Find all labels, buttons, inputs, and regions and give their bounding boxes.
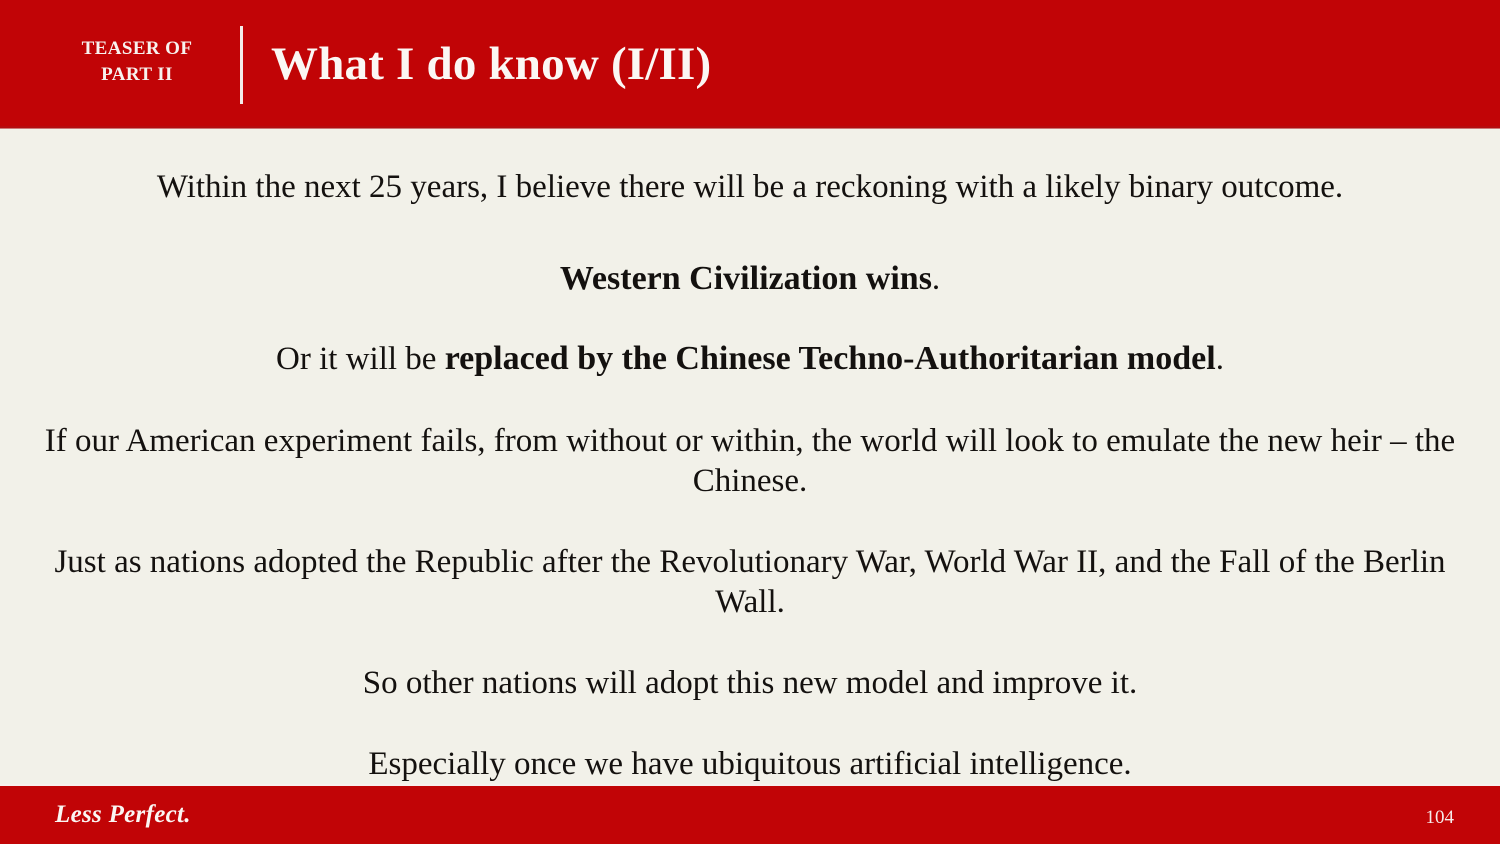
footer-brand-label: Less Perfect. [55, 800, 191, 830]
text-run-normal: . [1216, 341, 1224, 377]
header-eyebrow-line-1: TEASER OF [34, 36, 240, 62]
slide-header-bar: TEASER OF PART II What I do know (I/II) [0, 0, 1500, 128]
body-paragraph-5: Just as nations adopted the Republic aft… [38, 542, 1462, 622]
body-paragraph-6: So other nations will adopt this new mod… [38, 663, 1462, 703]
body-paragraph-4: If our American experiment fails, from w… [38, 421, 1462, 501]
body-paragraph-2: Western Civilization wins. [38, 259, 1462, 299]
text-run-normal: So other nations will adopt this new mod… [363, 665, 1138, 701]
text-run-bold: replaced by the Chinese Techno-Authorita… [445, 340, 1216, 377]
text-run-normal: If our American experiment fails, from w… [45, 423, 1455, 499]
footer-page-number: 104 [1426, 806, 1455, 830]
text-run-normal: . [932, 261, 940, 297]
header-eyebrow: TEASER OF PART II [34, 36, 240, 88]
slide-body: Within the next 25 years, I believe ther… [0, 128, 1500, 784]
text-run-normal: Especially once we have ubiquitous artif… [368, 746, 1131, 782]
slide-title: What I do know (I/II) [271, 29, 711, 99]
body-paragraph-7: Especially once we have ubiquitous artif… [38, 744, 1462, 784]
slide-root: TEASER OF PART II What I do know (I/II) … [0, 0, 1500, 844]
slide-footer-bar [0, 786, 1500, 844]
header-divider-rule [240, 26, 243, 104]
body-paragraph-3: Or it will be replaced by the Chinese Te… [38, 339, 1462, 379]
text-run-normal: Or it will be [276, 341, 445, 377]
header-eyebrow-line-2: PART II [34, 62, 240, 88]
text-run-normal: Just as nations adopted the Republic aft… [54, 544, 1445, 620]
text-run-normal: Within the next 25 years, I believe ther… [157, 169, 1343, 205]
body-paragraph-1: Within the next 25 years, I believe ther… [38, 167, 1462, 207]
text-run-bold: Western Civilization wins [560, 260, 932, 297]
